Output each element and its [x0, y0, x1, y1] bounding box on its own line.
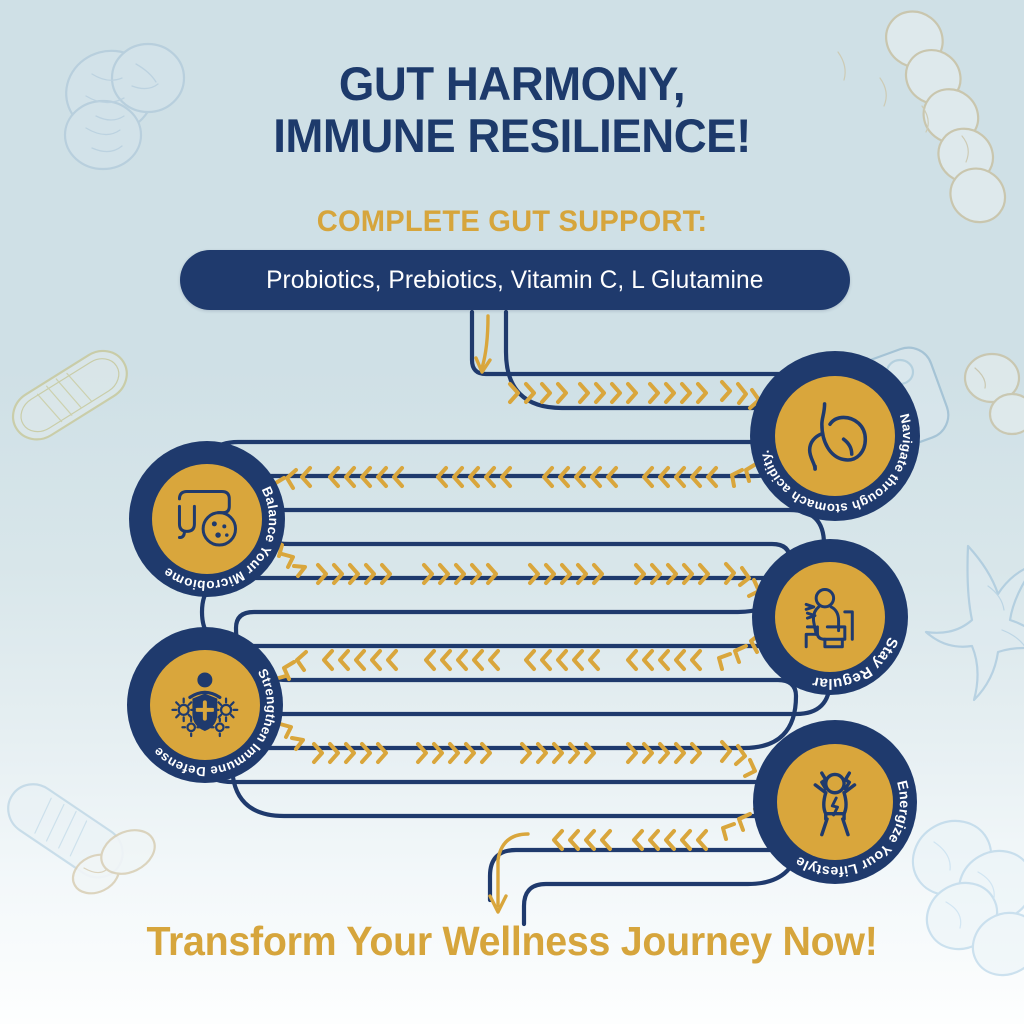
- subheading: COMPLETE GUT SUPPORT:: [15, 205, 1008, 239]
- ingredients-pill: Probiotics, Prebiotics, Vitamin C, L Glu…: [180, 250, 850, 310]
- headline-line-2: IMMUNE RESILIENCE!: [15, 110, 1008, 162]
- headline-line-1: GUT HARMONY,: [339, 57, 685, 110]
- page-title: GUT HARMONY, IMMUNE RESILIENCE!: [15, 58, 1008, 161]
- infographic-poster: Navigate through stomach acidity. Balanc…: [0, 0, 1024, 1024]
- poster-text: GUT HARMONY, IMMUNE RESILIENCE! COMPLETE…: [0, 0, 1024, 1024]
- ingredients-label: Probiotics, Prebiotics, Vitamin C, L Glu…: [266, 266, 763, 295]
- cta-text: Transform Your Wellness Journey Now!: [20, 918, 1003, 965]
